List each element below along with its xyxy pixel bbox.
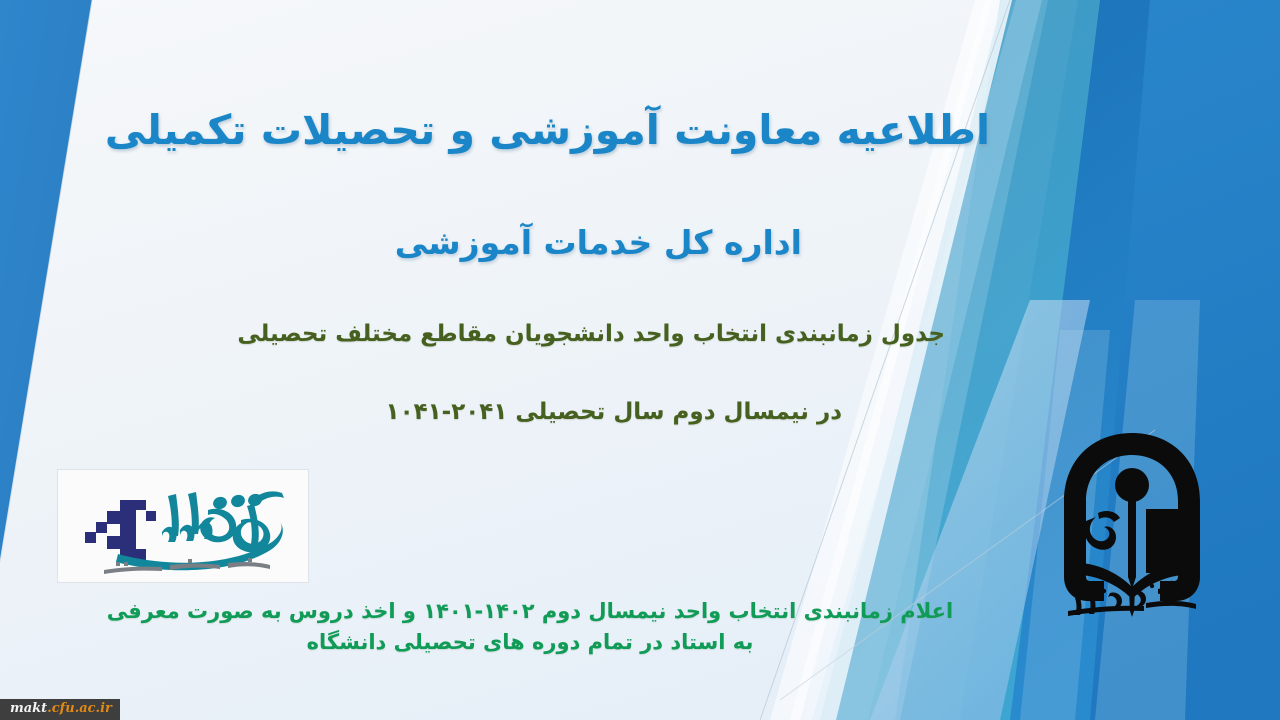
page-subtitle-department: اداره کل خدمات آموزشی bbox=[395, 223, 802, 262]
golestan-logo-icon bbox=[58, 470, 308, 582]
footer-line-2: به استاد در تمام دوره های تحصیلی دانشگاه bbox=[0, 627, 1060, 658]
source-watermark: makt.cfu.ac.ir bbox=[0, 699, 120, 720]
farhangian-logo-icon bbox=[1046, 425, 1218, 630]
academic-term-line: در نیمسال دوم سال تحصیلی ۱۴۰۲-۱۴۰۱ bbox=[386, 399, 842, 425]
schedule-heading: جدول زمانبندی انتخاب واحد دانشجویان مقاط… bbox=[237, 321, 945, 347]
footer-line-1: اعلام زمانبندی انتخاب واحد نیمسال دوم ۱۴… bbox=[0, 596, 1060, 627]
farhangian-university-logo: دانشگاه فرهنگیان bbox=[1046, 425, 1218, 630]
announcement-slide: اطلاعیه معاونت آموزشی و تحصیلات تکمیلی ا… bbox=[0, 0, 1280, 720]
page-title: اطلاعیه معاونت آموزشی و تحصیلات تکمیلی bbox=[105, 106, 990, 154]
watermark-suffix: .cfu.ac.ir bbox=[47, 701, 112, 716]
golestan-logo: گلستان سیستم جامع دانشگاهی bbox=[58, 470, 308, 582]
watermark-prefix: makt bbox=[10, 701, 47, 716]
footer-announcement: اعلام زمانبندی انتخاب واحد نیمسال دوم ۱۴… bbox=[0, 596, 1060, 658]
